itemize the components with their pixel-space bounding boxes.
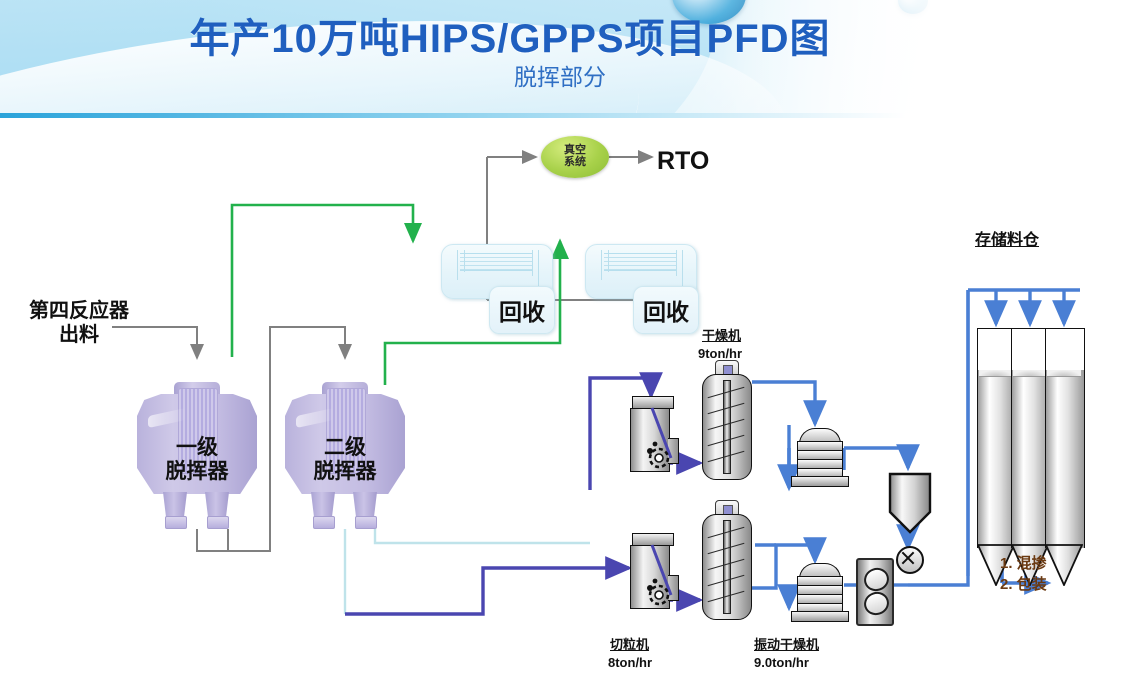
condenser-line: [676, 250, 677, 276]
vibrating-dryer-name-label: 振动干燥机: [754, 637, 819, 652]
pelletizer-name-label: 切粒机: [610, 637, 649, 652]
elevator-coil-icon: [861, 565, 892, 595]
bucket-elevator[interactable]: [856, 558, 894, 626]
elevator-coil-icon: [861, 589, 892, 619]
rto-label: RTO: [657, 147, 709, 176]
surge-hopper-shape: [888, 472, 932, 534]
condenser-tube-bundle-icon: [460, 253, 532, 271]
devolatilizer-stage-2[interactable]: 二级 脱挥器: [285, 374, 405, 529]
condenser-line: [532, 250, 533, 276]
vacuum-system-label: 真空 系统: [564, 145, 586, 168]
rotary-valve[interactable]: [896, 546, 924, 574]
condenser-line: [682, 250, 683, 286]
pelletizer-rotor-icon: [626, 533, 678, 611]
storage-silo-label: 存储料仓: [975, 232, 1039, 251]
silo-material-level: [1047, 370, 1081, 377]
screener-lower[interactable]: [789, 563, 849, 621]
pelletizer-rotor-icon: [626, 396, 678, 474]
screener-base: [791, 476, 849, 487]
silo-material-level: [979, 370, 1013, 377]
feed-label-line1: 第四反应器: [14, 300, 144, 324]
storage-silo-3[interactable]: [1045, 328, 1083, 586]
vibrating-dryer-capacity-label: 9.0ton/hr: [754, 655, 809, 670]
recovery-label-1: 回收: [489, 286, 555, 334]
pelletizer-upper[interactable]: [626, 396, 678, 474]
pelletizer-lower[interactable]: [626, 533, 678, 611]
devolatilizer-outlet-nozzle: [207, 516, 229, 529]
vacuum-system-node[interactable]: 真空 系统: [541, 136, 609, 178]
condenser-line: [464, 250, 465, 272]
devolatilizer-outlet-nozzle: [313, 516, 335, 529]
pelletizer-capacity-label: 8ton/hr: [608, 655, 652, 670]
dryer-upper[interactable]: [698, 360, 754, 478]
condenser-line: [538, 250, 539, 286]
screener-upper[interactable]: [789, 428, 849, 486]
silo-top-section: [1045, 328, 1085, 372]
pfd-page: 年产10万吨HIPS/GPPS项目PFD图 脱挥部分: [0, 0, 1133, 682]
devolatilizer-stage-1[interactable]: 一级 脱挥器: [137, 374, 257, 529]
screener-base: [791, 611, 849, 622]
dryer-shaft: [723, 520, 731, 614]
devolatilizer-2-label: 二级 脱挥器: [285, 436, 405, 483]
screener-side-arrows: [755, 425, 789, 545]
condenser-tube-bundle-icon: [604, 253, 676, 271]
devolatilizer-outlet-nozzle: [355, 516, 377, 529]
silo-body: [1045, 370, 1085, 548]
outlet-label-2: 2. 包装: [1000, 576, 1047, 594]
dryer-name-label: 干燥机: [702, 328, 741, 343]
outlet-label-1: 1. 混掺: [1000, 555, 1047, 573]
devolatilizer-1-label: 一级 脱挥器: [137, 436, 257, 483]
surge-hopper[interactable]: [888, 472, 932, 539]
storage-silo-2[interactable]: [1011, 328, 1049, 586]
devolatilizer-outlet-nozzle: [165, 516, 187, 529]
silo-cone: [1045, 544, 1083, 586]
condenser-line: [457, 250, 458, 280]
interstage-line-cyan: [345, 529, 590, 614]
flow-lines-layer: [0, 0, 1133, 682]
condenser-line: [608, 250, 609, 272]
feed-label-line2: 出料: [14, 324, 144, 348]
dryer-shaft: [723, 380, 731, 474]
dryer-lower[interactable]: [698, 500, 754, 618]
storage-silo-1[interactable]: [977, 328, 1015, 586]
recovery-label-2: 回收: [633, 286, 699, 334]
condenser-line: [601, 250, 602, 280]
feed-label: 第四反应器 出料: [14, 300, 144, 347]
silo-material-level: [1013, 370, 1047, 377]
